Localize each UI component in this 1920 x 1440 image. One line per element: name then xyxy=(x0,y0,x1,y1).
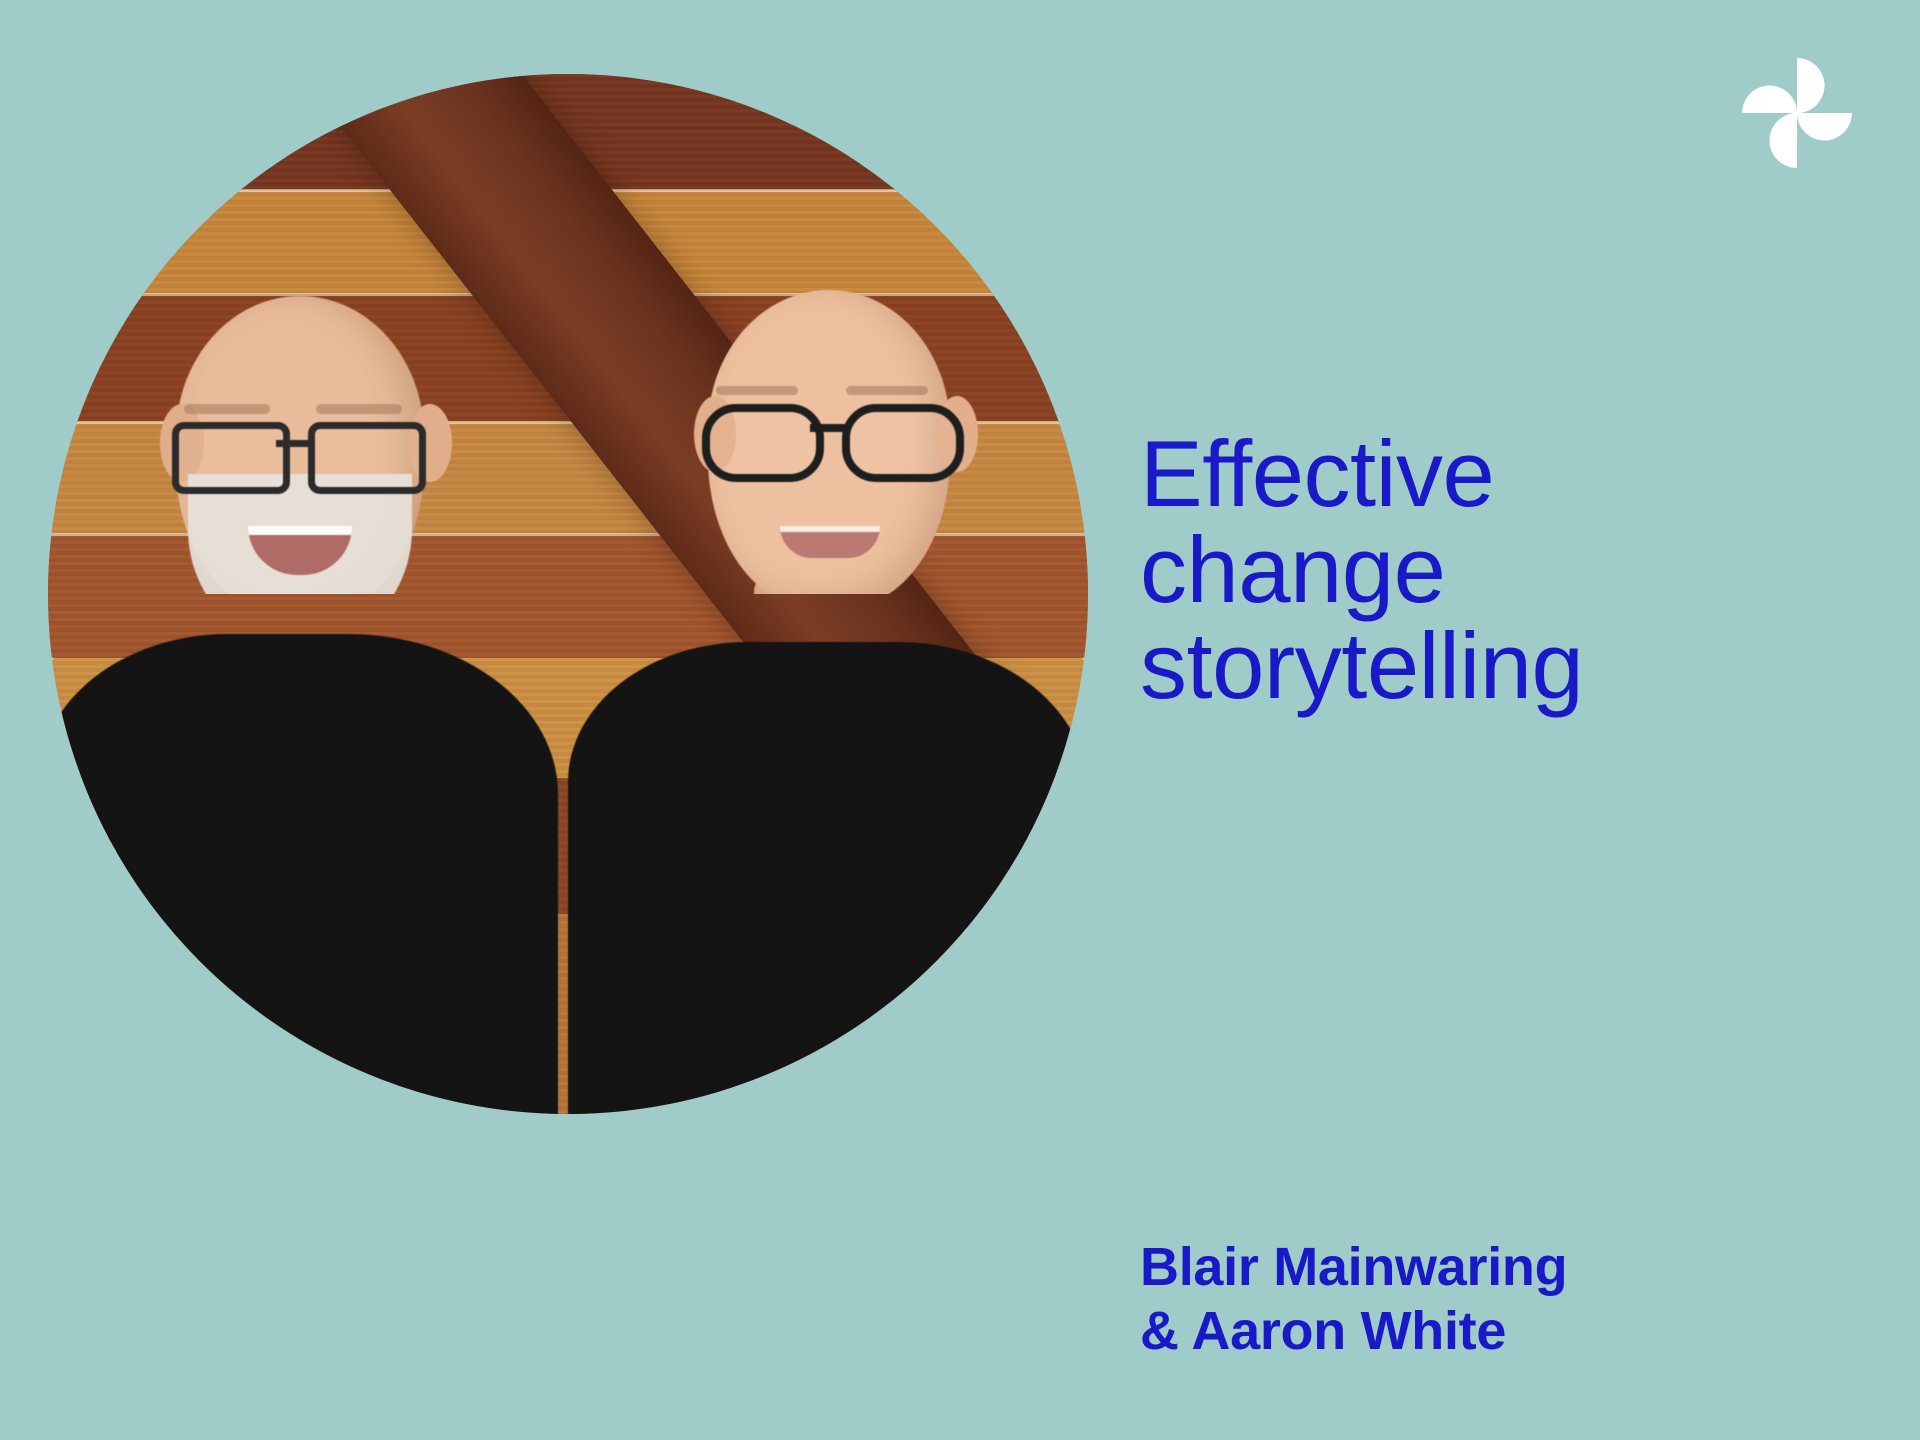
presenter-name-primary: Blair Mainwaring xyxy=(1140,1236,1900,1300)
photo-circle-bottom xyxy=(48,594,1088,1440)
glasses-lens xyxy=(308,422,426,494)
glasses-lens xyxy=(842,404,964,482)
left-person-glasses xyxy=(166,422,432,484)
glasses-bridge xyxy=(810,424,846,432)
presentation-slide: Effective change storytelling Blair Main… xyxy=(0,0,1920,1440)
title-line-2: change xyxy=(1140,522,1880,618)
presenter-name-secondary: & Aaron White xyxy=(1140,1300,1900,1364)
pinwheel-logo xyxy=(1736,52,1858,174)
left-person-eyebrow xyxy=(316,404,402,414)
right-person-eyebrow xyxy=(846,386,928,395)
right-person-glasses xyxy=(698,404,966,470)
glasses-lens xyxy=(172,422,290,494)
title-line-1: Effective xyxy=(1140,426,1880,522)
left-person-eyebrow xyxy=(184,404,270,414)
presenters-photo xyxy=(48,74,1088,1440)
presenter-names: Blair Mainwaring & Aaron White xyxy=(1140,1236,1900,1363)
photo-subjects-lower xyxy=(48,594,1088,1114)
right-person-eyebrow xyxy=(716,386,798,395)
glasses-lens xyxy=(702,404,824,482)
right-person-torso xyxy=(568,642,1088,1122)
title-line-3: storytelling xyxy=(1140,618,1880,714)
slide-title: Effective change storytelling xyxy=(1140,426,1880,714)
glasses-bridge xyxy=(276,440,312,447)
